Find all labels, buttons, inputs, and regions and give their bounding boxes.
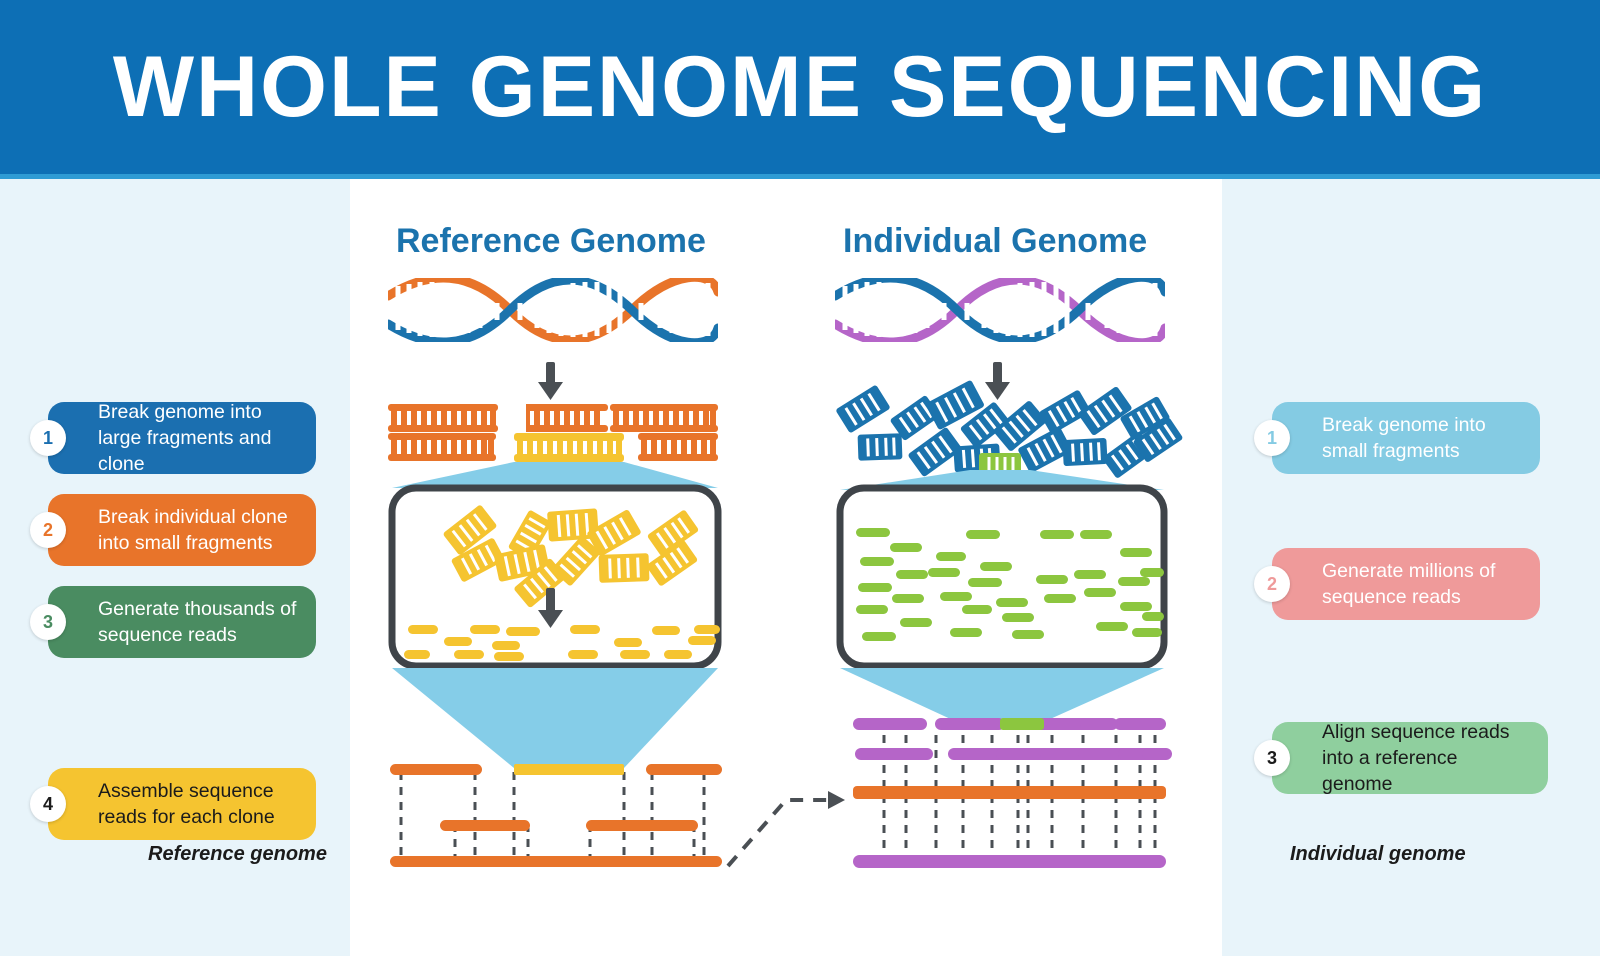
right-step-3-number: 3 [1267,745,1277,771]
left-step-4[interactable]: 4 Assemble sequence reads for each clone [48,768,316,840]
right-step-3-badge: 3 [1254,740,1290,776]
right-step-1[interactable]: 1 Break genome into small fragments [1272,402,1540,474]
right-step-2-badge: 2 [1254,566,1290,602]
left-step-3-label: Generate thousands of sequence reads [98,596,300,648]
left-step-2-number: 2 [43,517,53,543]
diagram-panel [350,179,1222,956]
left-step-3-badge: 3 [30,604,66,640]
left-step-2[interactable]: 2 Break individual clone into small frag… [48,494,316,566]
right-step-1-badge: 1 [1254,420,1290,456]
left-step-4-number: 4 [43,791,53,817]
left-step-3-number: 3 [43,609,53,635]
left-step-1-badge: 1 [30,420,66,456]
page-title: WHOLE GENOME SEQUENCING [0,0,1600,174]
right-step-3[interactable]: 3 Align sequence reads into a reference … [1272,722,1548,794]
right-step-2-label: Generate millions of sequence reads [1322,558,1524,610]
right-step-3-label: Align sequence reads into a reference ge… [1322,719,1532,797]
right-step-1-label: Break genome into small fragments [1322,412,1524,464]
left-step-4-badge: 4 [30,786,66,822]
left-step-1-number: 1 [43,425,53,451]
right-step-1-number: 1 [1267,425,1277,451]
left-step-2-badge: 2 [30,512,66,548]
left-footer-label: Reference genome [148,843,327,866]
column-title-reference: Reference Genome [396,222,706,261]
right-step-2[interactable]: 2 Generate millions of sequence reads [1272,548,1540,620]
left-step-2-label: Break individual clone into small fragme… [98,504,300,556]
left-step-3[interactable]: 3 Generate thousands of sequence reads [48,586,316,658]
infographic-root: WHOLE GENOME SEQUENCING Reference Genome… [0,0,1600,956]
left-step-1[interactable]: 1 Break genome into large fragments and … [48,402,316,474]
left-step-1-label: Break genome into large fragments and cl… [98,399,300,477]
right-step-2-number: 2 [1267,571,1277,597]
header-bar: WHOLE GENOME SEQUENCING [0,0,1600,174]
left-step-4-label: Assemble sequence reads for each clone [98,778,300,830]
column-title-individual: Individual Genome [843,222,1147,261]
right-footer-label: Individual genome [1290,843,1466,866]
